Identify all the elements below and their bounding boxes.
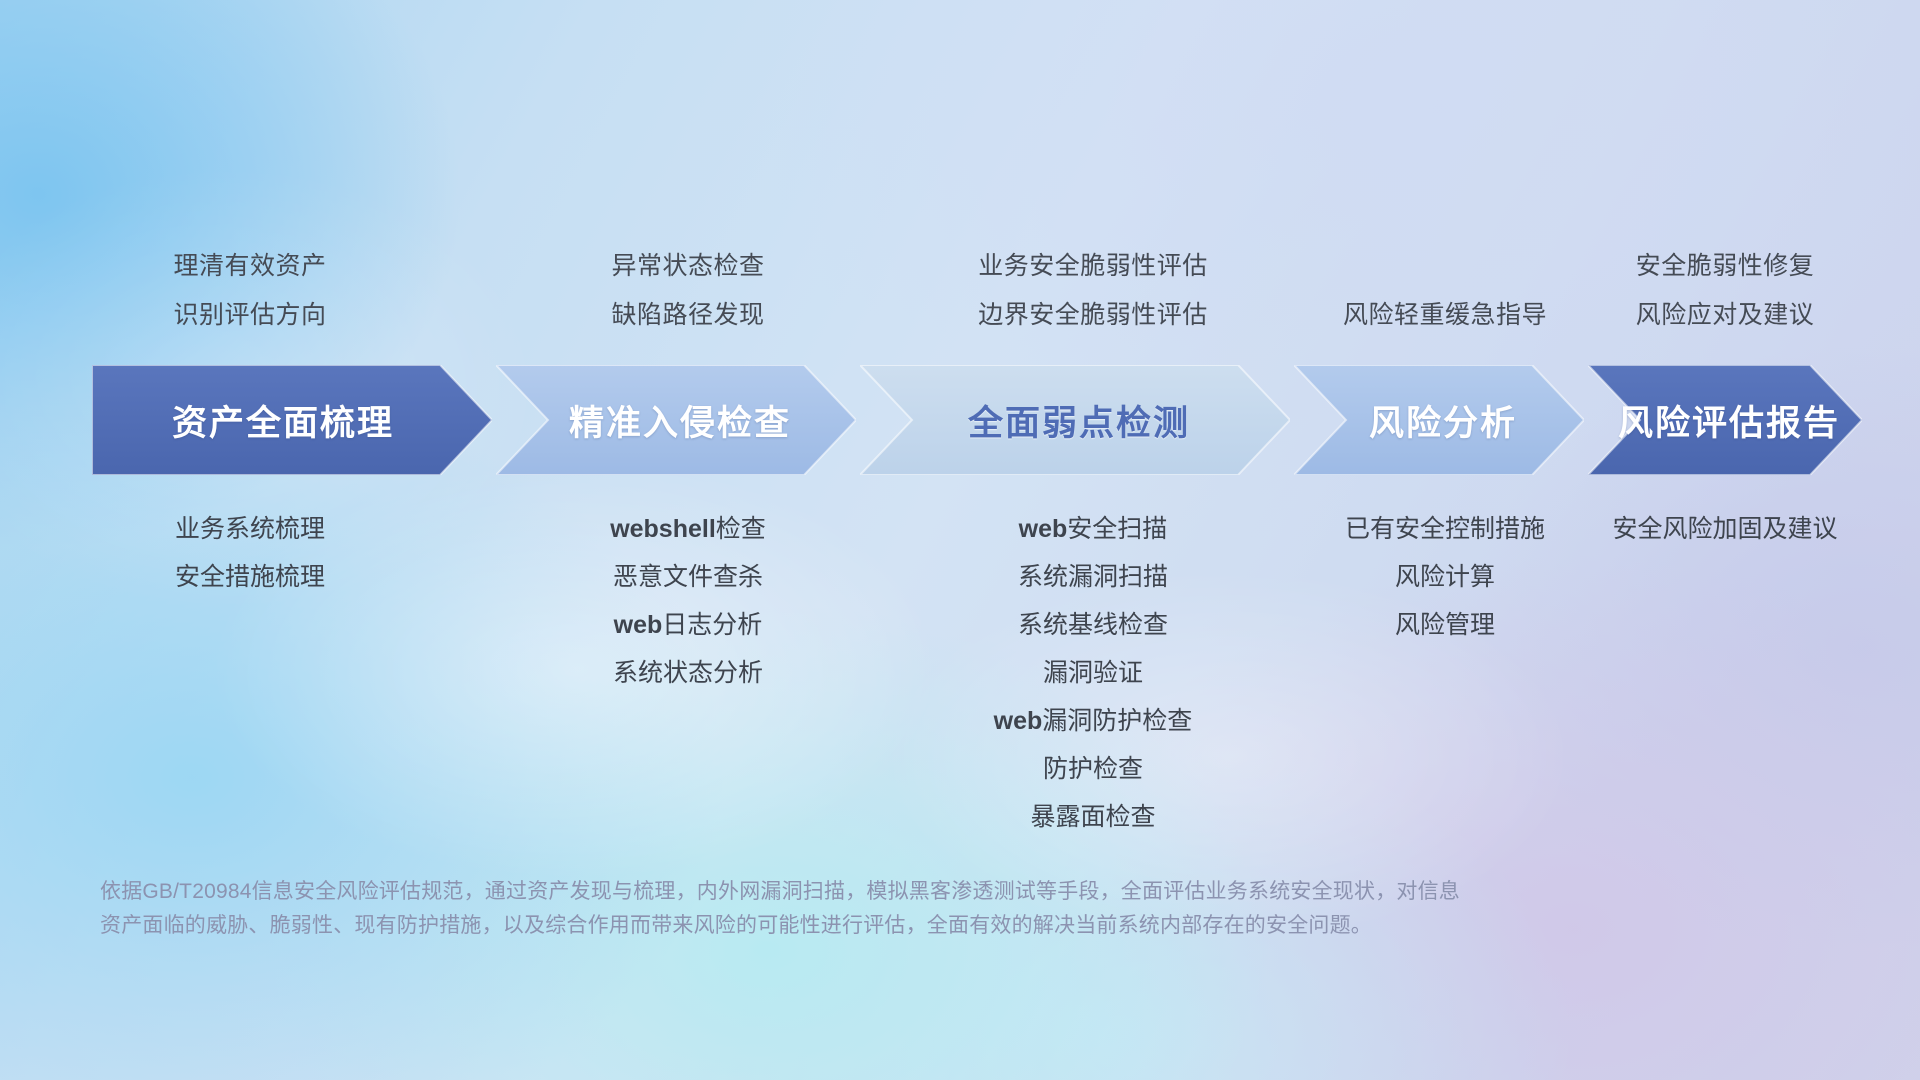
stage-arrow-band: 资产全面梳理精准入侵检查全面弱点检测风险分析风险评估报告 — [92, 365, 1862, 475]
bottom-label-text: 恶意文件查杀 — [613, 563, 763, 591]
bottom-label-item: 风险管理 — [1185, 601, 1705, 649]
stage-arrow-asset-inventory[interactable]: 资产全面梳理 — [92, 365, 492, 475]
bottom-label-text: 检查 — [716, 515, 766, 543]
bottom-label-text: 安全风险加固及建议 — [1612, 515, 1837, 543]
process-diagram: 理清有效资产识别评估方向异常状态检查缺陷路径发现业务安全脆弱性评估边界安全脆弱性… — [0, 0, 1920, 1080]
top-label-item: 风险应对及建议 — [1465, 291, 1920, 340]
footer-line-2: 资产面临的威胁、脆弱性、现有防护措施，以及综合作用而带来风险的可能性进行评估，全… — [100, 909, 1620, 943]
top-label-item: 业务安全脆弱性评估 — [833, 242, 1353, 291]
bottom-label-item: 风险计算 — [1185, 553, 1705, 601]
stage-title-asset-inventory: 资产全面梳理 — [172, 395, 394, 446]
bottom-label-item: 漏洞验证 — [833, 649, 1353, 697]
stage-title-weakness-detection: 全面弱点检测 — [968, 395, 1190, 446]
bottom-label-keyword: web — [1019, 515, 1068, 543]
footer-line-1: 依据GB/T20984信息安全风险评估规范，通过资产发现与梳理，内外网漏洞扫描，… — [100, 875, 1620, 909]
stage-title-risk-analysis: 风险分析 — [1369, 395, 1517, 446]
bottom-label-text: 日志分析 — [662, 611, 762, 639]
stage-arrow-risk-report[interactable]: 风险评估报告 — [1588, 365, 1862, 475]
bottom-label-item: 暴露面检查 — [833, 793, 1353, 841]
bottom-label-keyword: web — [994, 707, 1043, 735]
bottom-label-item: 防护检查 — [833, 745, 1353, 793]
bottom-label-item: 安全风险加固及建议 — [1465, 505, 1920, 553]
top-labels-risk-report: 安全脆弱性修复风险应对及建议 — [1465, 242, 1920, 340]
bottom-label-text: 业务系统梳理 — [175, 515, 325, 543]
stage-arrow-risk-analysis[interactable]: 风险分析 — [1294, 365, 1584, 475]
bottom-label-keyword: webshell — [610, 515, 716, 543]
bottom-label-text: 漏洞验证 — [1043, 659, 1143, 687]
bottom-label-item: web漏洞防护检查 — [833, 697, 1353, 745]
bottom-label-text: 安全扫描 — [1067, 515, 1167, 543]
bottom-label-text: 防护检查 — [1043, 755, 1143, 783]
stage-title-risk-report: 风险评估报告 — [1618, 395, 1840, 446]
bottom-label-keyword: web — [614, 611, 663, 639]
bottom-label-text: 安全措施梳理 — [175, 563, 325, 591]
bottom-label-text: 系统漏洞扫描 — [1018, 563, 1168, 591]
bottom-label-text: 系统状态分析 — [613, 659, 763, 687]
stage-title-intrusion-check: 精准入侵检查 — [569, 395, 791, 446]
top-label-item: 安全脆弱性修复 — [1465, 242, 1920, 291]
footer-description: 依据GB/T20984信息安全风险评估规范，通过资产发现与梳理，内外网漏洞扫描，… — [100, 875, 1620, 943]
bottom-label-text: 系统基线检查 — [1018, 611, 1168, 639]
bottom-label-text: 风险计算 — [1395, 563, 1495, 591]
bottom-label-text: 暴露面检查 — [1030, 803, 1155, 831]
bottom-label-text: 漏洞防护检查 — [1042, 707, 1192, 735]
bottom-labels-risk-report: 安全风险加固及建议 — [1465, 505, 1920, 553]
bottom-label-text: 风险管理 — [1395, 611, 1495, 639]
stage-arrow-intrusion-check[interactable]: 精准入侵检查 — [496, 365, 856, 475]
stage-arrow-weakness-detection[interactable]: 全面弱点检测 — [860, 365, 1290, 475]
